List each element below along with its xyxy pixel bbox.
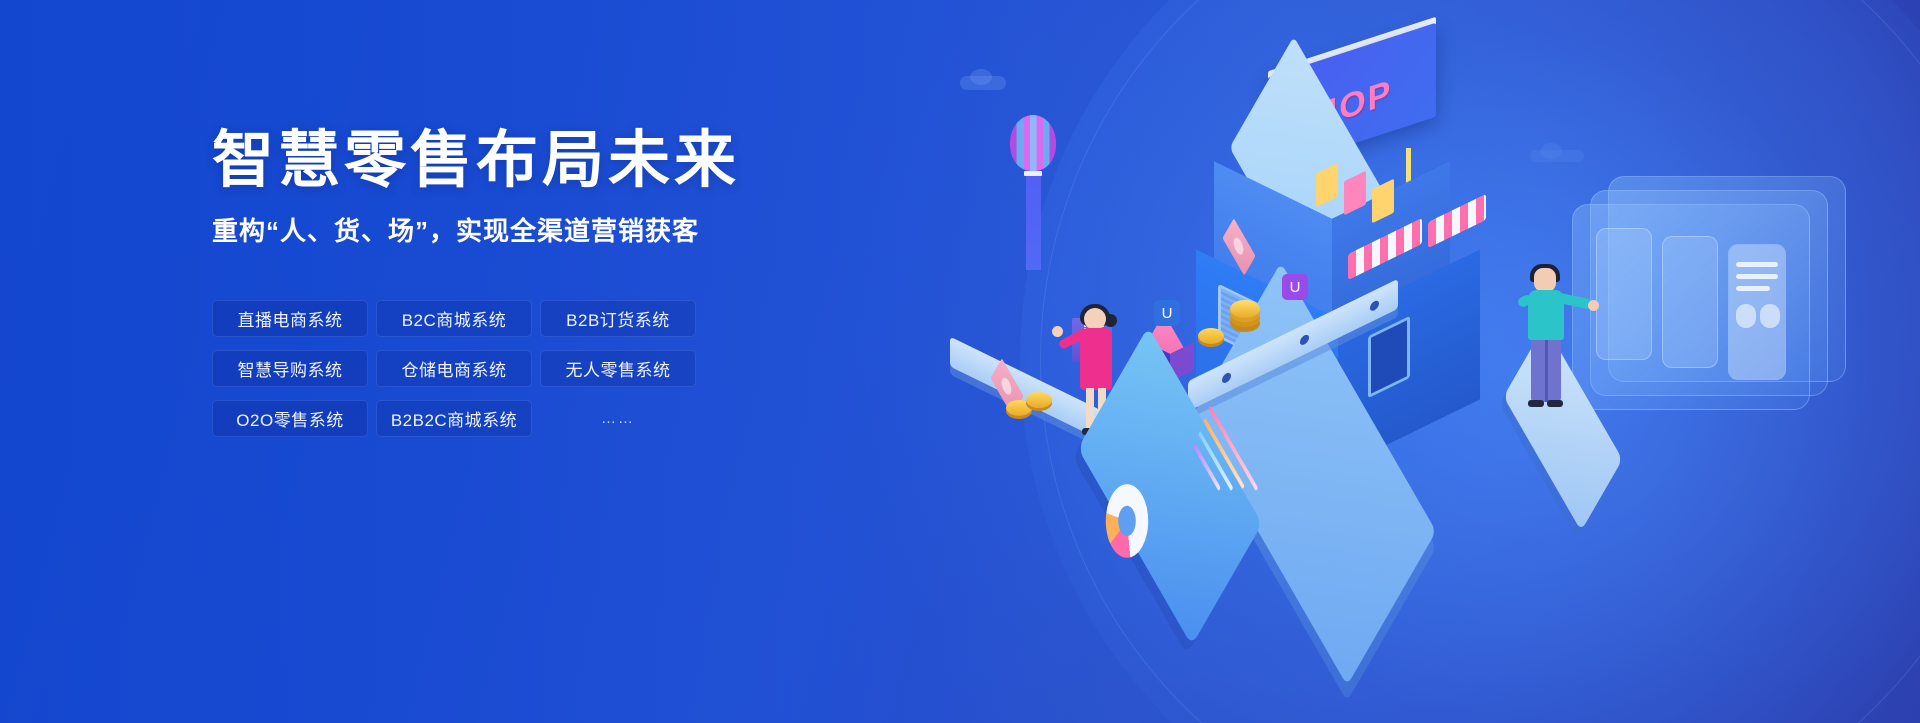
balloon-envelope — [1010, 115, 1056, 171]
tag-warehouse[interactable]: 仓储电商系统 — [376, 350, 532, 387]
coin-icon-3 — [1026, 392, 1052, 408]
man-floor-pad — [1503, 325, 1622, 531]
tag-b2c-mall[interactable]: B2C商城系统 — [376, 300, 532, 337]
woman-hand — [1052, 326, 1063, 337]
tag-b2b2c-mall[interactable]: B2B2C商城系统 — [376, 400, 532, 437]
woman-bun — [1104, 314, 1117, 327]
man-shoe-left — [1528, 400, 1544, 407]
tag-more-ellipsis: …… — [540, 400, 696, 437]
belt-rivet — [1300, 333, 1309, 346]
screen-thumb-1 — [1736, 304, 1756, 328]
tag-o2o-retail[interactable]: O2O零售系统 — [212, 400, 368, 437]
ui-screen-stack — [1570, 170, 1870, 420]
shop-building: SHOP — [1140, 40, 1560, 470]
belt-rivet — [1222, 371, 1231, 384]
man-head — [1534, 268, 1556, 292]
coin-icon — [1198, 328, 1224, 344]
hero-copy: 智慧零售布局未来 重构“人、货、场”，实现全渠道营销获客 — [212, 128, 832, 248]
belt-rivet — [1370, 299, 1379, 312]
solution-tag-grid: 直播电商系统 B2C商城系统 B2B订货系统 智慧导购系统 仓储电商系统 无人零… — [212, 300, 696, 437]
screen-text-line-2 — [1736, 274, 1778, 279]
man-hand — [1588, 300, 1599, 311]
tag-b2b-ordering[interactable]: B2B订货系统 — [540, 300, 696, 337]
screen-text-line-1 — [1736, 262, 1778, 267]
tag-smart-guide[interactable]: 智慧导购系统 — [212, 350, 368, 387]
hot-air-balloon-icon — [1002, 115, 1064, 325]
man-leg-split — [1545, 338, 1548, 402]
retail-isometric-illustration: SHOP — [930, 0, 1920, 723]
hero-banner: 智慧零售布局未来 重构“人、货、场”，实现全渠道营销获客 直播电商系统 B2C商… — [0, 0, 1920, 723]
tag-live-commerce[interactable]: 直播电商系统 — [212, 300, 368, 337]
u-tag-icon-purple: U — [1282, 274, 1308, 300]
screen-thumb-2 — [1760, 304, 1780, 328]
woman-head — [1084, 308, 1106, 330]
screen-card-2 — [1662, 236, 1718, 368]
balloon-banner — [1026, 176, 1041, 270]
tag-unmanned-retail[interactable]: 无人零售系统 — [540, 350, 696, 387]
man-shoe-right — [1547, 400, 1563, 407]
screen-text-line-3 — [1736, 286, 1770, 291]
page-subtitle: 重构“人、货、场”，实现全渠道营销获客 — [212, 211, 832, 248]
coin-stack-icon — [1230, 300, 1260, 318]
man-user-figure — [1522, 268, 1612, 468]
cloud-icon — [960, 76, 1006, 90]
u-tag-icon-blue: U — [1154, 300, 1180, 326]
page-title: 智慧零售布局未来 — [212, 128, 832, 195]
